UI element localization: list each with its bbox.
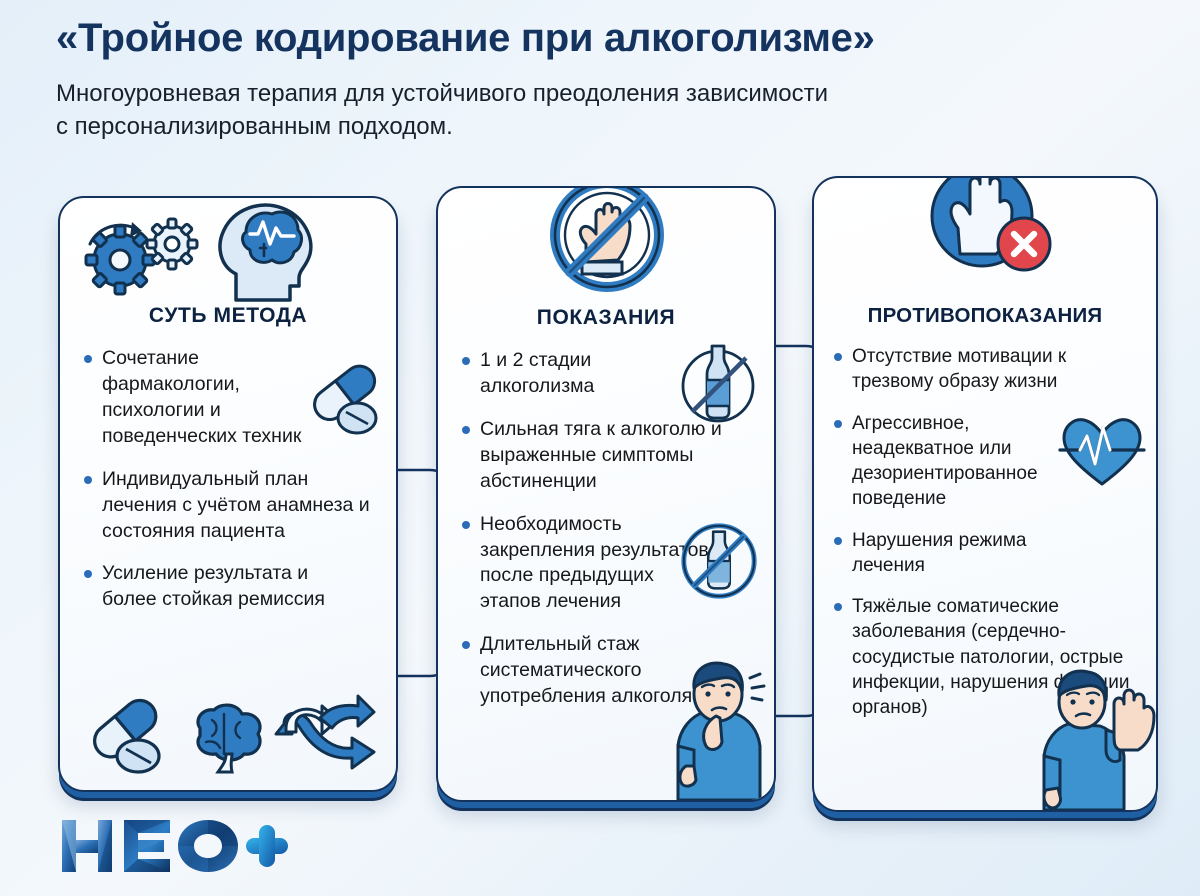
man-raised-hand-icon [1036,650,1158,810]
card-sut-metoda[interactable]: СУТЬ МЕТОДА Сочетание фармакологии, псих… [58,196,398,792]
no-bottle-icon [676,518,762,604]
card-protivopokazaniya[interactable]: ПРОТИВОПОКАЗАНИЯ Отсутствие мотивации к … [812,176,1158,812]
cards-container: СУТЬ МЕТОДА Сочетание фармакологии, псих… [0,0,1200,896]
card-pokazaniya[interactable]: ПОКАЗАНИЯ 1 и 2 стадии алкоголизма Сильн… [436,186,776,802]
brain-icon [182,698,270,778]
list-item: Усиление результата и более стойкая реми… [82,561,367,613]
list-item: Нарушения режима лечения [832,528,1102,579]
card-1-heading: СУТЬ МЕТОДА [60,304,396,328]
shuffle-arrows-icon [268,694,382,776]
list-item: Агрессивное, неадекватное или дезориенти… [832,411,1062,512]
card-2-heading: ПОКАЗАНИЯ [438,306,774,330]
infographic-page: «Тройное кодирование при алкоголизме» Мн… [0,0,1200,896]
list-item: Отсутствие мотивации к трезвому образу ж… [832,344,1132,395]
list-item: Необходимость закрепления результатов по… [460,512,710,616]
heart-pulse-icon [1058,414,1146,490]
list-item: Индивидуальный план лечения с учётом ана… [82,467,372,545]
list-item: Сильная тяга к алкоголю и выраженные сим… [460,417,760,495]
head-brain-pulse-icon [206,196,338,304]
capsule-pill-icon [302,358,388,438]
capsule-pill-icon [82,694,172,778]
card-3-heading: ПРОТИВОПОКАЗАНИЯ [814,304,1156,328]
no-bottle-icon [674,340,762,428]
no-hand-stop-icon [542,186,672,300]
list-item: 1 и 2 стадии алкоголизма [460,348,670,400]
hand-stop-cross-icon [922,176,1054,288]
worried-man-icon [656,654,776,800]
gears-icon [76,208,226,304]
